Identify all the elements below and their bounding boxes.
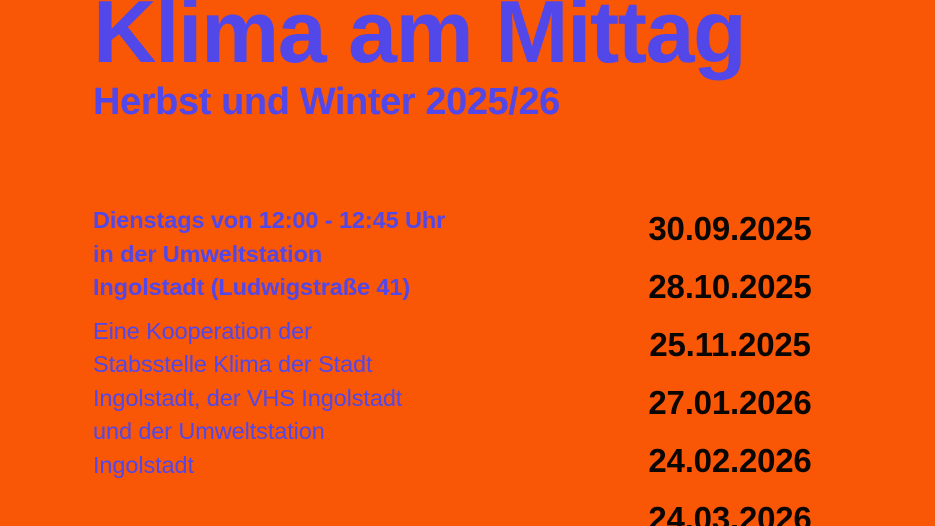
event-date: 28.10.2025 <box>570 258 890 316</box>
schedule-line: in der Umweltstation <box>93 238 503 272</box>
page-title: Klima am Mittag <box>93 0 893 78</box>
event-date: 24.02.2026 <box>570 432 890 490</box>
cooperation-line: und der Umweltstation <box>93 415 503 449</box>
event-date: 25.11.2025 <box>570 316 890 374</box>
schedule-line: Dienstags von 12:00 - 12:45 Uhr <box>93 204 503 238</box>
cooperation-line: Ingolstadt <box>93 449 503 483</box>
info-column: Dienstags von 12:00 - 12:45 Uhr in der U… <box>93 204 503 482</box>
cooperation-line: Eine Kooperation der <box>93 315 503 349</box>
cooperation-text: Eine Kooperation der Stabsstelle Klima d… <box>93 315 503 483</box>
dates-column: 30.09.2025 28.10.2025 25.11.2025 27.01.2… <box>570 200 890 526</box>
event-date: 24.03.2026 <box>570 490 890 526</box>
poster-heading: Klima am Mittag Herbst und Winter 2025/2… <box>93 0 893 122</box>
schedule-text: Dienstags von 12:00 - 12:45 Uhr in der U… <box>93 204 503 305</box>
event-date: 27.01.2026 <box>570 374 890 432</box>
page-subtitle: Herbst und Winter 2025/26 <box>93 82 893 122</box>
cooperation-line: Stabsstelle Klima der Stadt <box>93 348 503 382</box>
event-poster: Klima am Mittag Herbst und Winter 2025/2… <box>0 0 935 526</box>
schedule-line: Ingolstadt (Ludwigstraße 41) <box>93 271 503 305</box>
cooperation-line: Ingolstadt, der VHS Ingolstadt <box>93 382 503 416</box>
event-date: 30.09.2025 <box>570 200 890 258</box>
